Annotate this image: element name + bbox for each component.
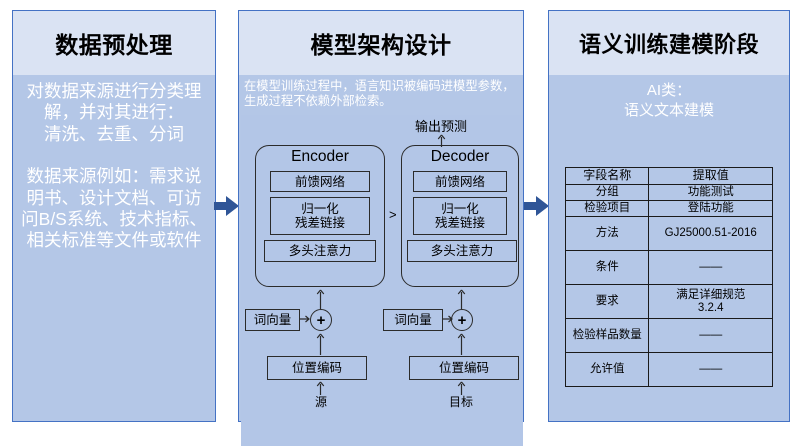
encoder-multihead-attention-box: 多头注意力 xyxy=(264,240,376,262)
table-row: 检验样品数量 —— xyxy=(566,319,773,353)
slide-canvas: 数据预处理 对数据来源进行分类理解，并对其进行： 清洗、去重、分词 数据来源例如… xyxy=(0,0,800,446)
row-key: 检验样品数量 xyxy=(566,319,649,353)
extraction-spec-table: 字段名称 提取值 分组 功能测试 检验项目 登陆功能 方法 GJ25000.51… xyxy=(565,167,773,387)
row-value: 满足详细规范 3.2.4 xyxy=(649,285,773,319)
table-header-field-name: 字段名称 xyxy=(566,168,649,185)
arrow-panel1-to-panel2 xyxy=(214,196,240,216)
panel-data-preprocessing[interactable]: 数据预处理 对数据来源进行分类理解，并对其进行： 清洗、去重、分词 数据来源例如… xyxy=(12,10,216,422)
table-row: 方法 GJ25000.51-2016 xyxy=(566,217,773,251)
arrow-encoder-input-up xyxy=(316,289,325,309)
decoder-multihead-attention-box: 多头注意力 xyxy=(407,240,517,262)
panel-title: 模型架构设计 xyxy=(311,26,452,60)
row-key: 检验项目 xyxy=(566,201,649,217)
table-row: 分组 功能测试 xyxy=(566,184,773,200)
table-header-extracted-value: 提取值 xyxy=(649,168,773,185)
encoder-positional-encoding-box: 位置编码 xyxy=(267,356,367,380)
row-key: 要求 xyxy=(566,285,649,319)
row-value: —— xyxy=(649,353,773,387)
output-prediction-label: 输出预测 xyxy=(391,116,491,135)
row-key: 方法 xyxy=(566,217,649,251)
encoder-sum-node: + xyxy=(310,309,332,331)
table-row: 允许值 —— xyxy=(566,353,773,387)
panel-body-text: AI类： 语义文本建模 xyxy=(549,81,789,120)
row-value: 登陆功能 xyxy=(649,201,773,217)
table-header-row: 字段名称 提取值 xyxy=(566,168,773,185)
row-key: 允许值 xyxy=(566,353,649,387)
encoder-feedforward-box: 前馈网络 xyxy=(270,171,370,192)
panel-title: 数据预处理 xyxy=(55,26,173,60)
encoder-source-label: 源 xyxy=(297,393,345,410)
decoder-norm-residual-box: 归一化 残差链接 xyxy=(413,197,507,235)
table-row: 要求 满足详细规范 3.2.4 xyxy=(566,285,773,319)
table-row: 条件 —— xyxy=(566,251,773,285)
table-row: 检验项目 登陆功能 xyxy=(566,201,773,217)
encoder-norm-residual-box: 归一化 残差链接 xyxy=(270,197,370,235)
row-key: 条件 xyxy=(566,251,649,285)
panel-body: AI类： 语义文本建模 字段名称 提取值 分组 功能测试 检验项目 登陆功能 xyxy=(549,75,789,421)
panel-body: 对数据来源进行分类理解，并对其进行： 清洗、去重、分词 数据来源例如：需求说明书… xyxy=(13,75,215,421)
panel-header: 模型架构设计 xyxy=(239,11,523,75)
panel-title: 语义训练建模阶段 xyxy=(579,27,759,59)
arrow-encoder-to-decoder: > xyxy=(389,207,397,222)
arrow-decoder-positional-up xyxy=(457,333,466,355)
panel-body-text: 在模型训练过程中，语言知识被编码进模型参数，生成过程不依赖外部检索。 xyxy=(239,75,523,110)
decoder-title: Decoder xyxy=(401,148,519,166)
transformer-diagram: 输出预测 Encoder 前馈网络 归一化 残差链接 多头注意力 词向量 xyxy=(241,115,523,446)
decoder-word-embedding-box: 词向量 xyxy=(383,309,443,331)
panel-semantic-training-modeling-stage[interactable]: 语义训练建模阶段 AI类： 语义文本建模 字段名称 提取值 分组 功能测试 检验… xyxy=(548,10,790,422)
encoder-word-embedding-box: 词向量 xyxy=(245,309,300,331)
decoder-positional-encoding-box: 位置编码 xyxy=(409,356,519,380)
decoder-feedforward-box: 前馈网络 xyxy=(413,171,507,192)
row-value: —— xyxy=(649,319,773,353)
panel-header: 数据预处理 xyxy=(13,11,215,75)
row-value: GJ25000.51-2016 xyxy=(649,217,773,251)
row-key: 分组 xyxy=(566,184,649,200)
decoder-target-label: 目标 xyxy=(437,393,485,410)
table-body: 字段名称 提取值 分组 功能测试 检验项目 登陆功能 方法 GJ25000.51… xyxy=(566,168,773,387)
panel-body-text: 对数据来源进行分类理解，并对其进行： 清洗、去重、分词 数据来源例如：需求说明书… xyxy=(20,81,208,252)
row-value: 功能测试 xyxy=(649,184,773,200)
arrow-encoder-embedding-to-sum xyxy=(300,314,310,324)
panel-model-architecture-design[interactable]: 模型架构设计 在模型训练过程中，语言知识被编码进模型参数，生成过程不依赖外部检索… xyxy=(238,10,524,422)
arrow-panel2-to-panel3 xyxy=(524,196,550,216)
panel-header: 语义训练建模阶段 xyxy=(549,11,789,75)
panel-body: 在模型训练过程中，语言知识被编码进模型参数，生成过程不依赖外部检索。 输出预测 … xyxy=(239,75,523,421)
row-value: —— xyxy=(649,251,773,285)
arrow-decoder-input-up xyxy=(457,289,466,309)
encoder-title: Encoder xyxy=(255,148,385,166)
decoder-sum-node: + xyxy=(451,309,473,331)
arrow-encoder-positional-up xyxy=(316,333,325,355)
